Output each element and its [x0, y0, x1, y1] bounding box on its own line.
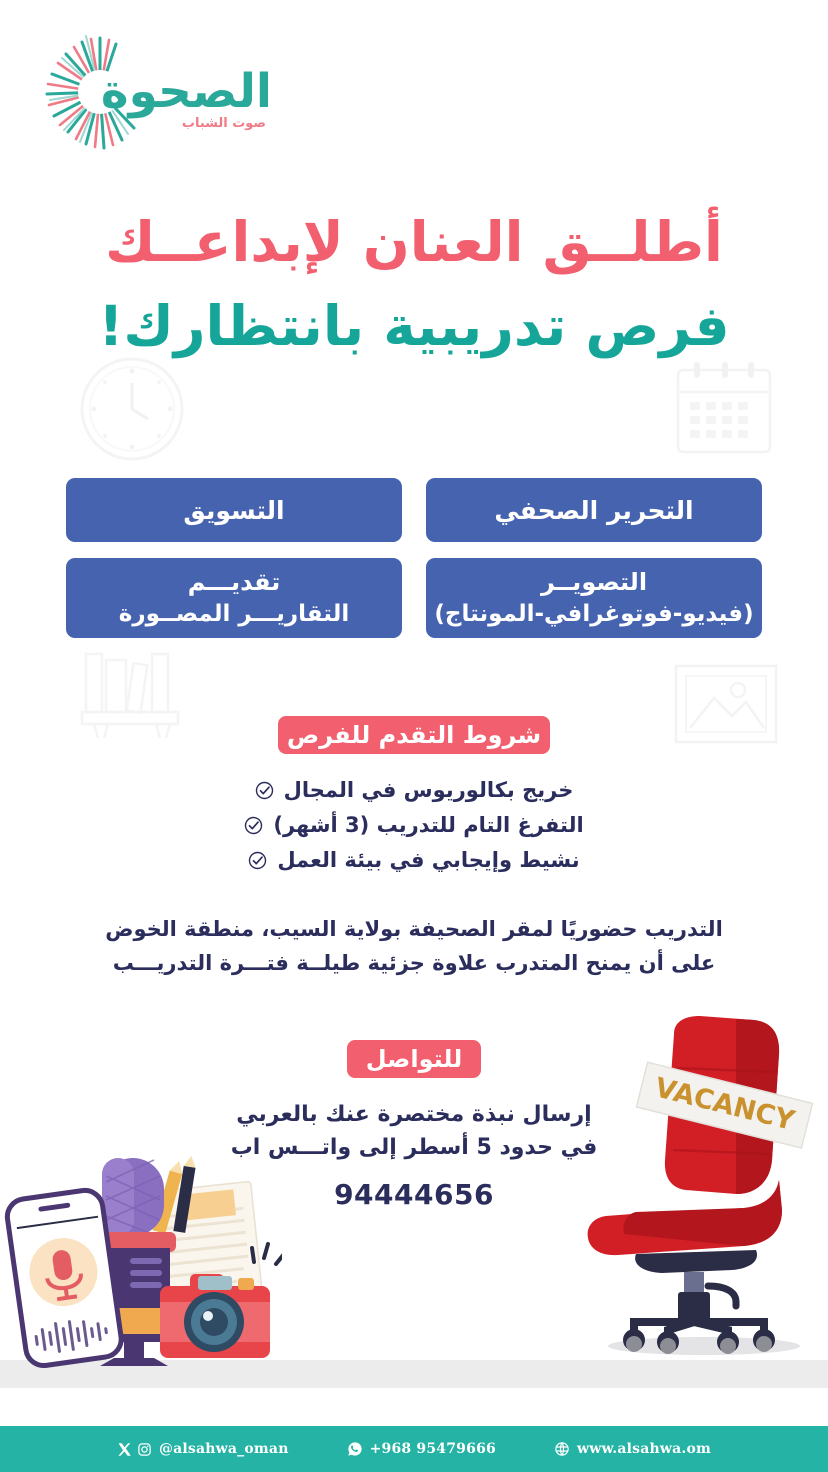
category-sublabel: (فيديو-فوتوغرافي-المونتاج)	[434, 599, 753, 629]
check-circle-icon	[244, 816, 263, 835]
footer-website-item[interactable]: www.alsahwa.om	[554, 1441, 711, 1457]
condition-label: خريج بكالوريوس في المجال	[284, 778, 574, 802]
poster-canvas: الصحوة صوت الشباب أطلــق العنان لإبداعــ…	[0, 0, 828, 1472]
footer-social-item[interactable]: @alsahwa_oman	[117, 1441, 289, 1457]
category-box-photography[interactable]: التصويــر (فيديو-فوتوغرافي-المونتاج)	[426, 558, 762, 638]
conditions-heading-label: شروط التقدم للفرص	[287, 721, 541, 749]
footer-whatsapp-number: +968 95479666	[370, 1441, 496, 1457]
calendar-watermark-icon	[672, 358, 776, 458]
training-note-line-2: على أن يمنح المتدرب علاوة جزئية طيلــة ف…	[0, 946, 828, 980]
training-note: التدريب حضوريًا لمقر الصحيفة بولاية السي…	[0, 912, 828, 980]
condition-label: نشيط وإيجابي في بيئة العمل	[277, 848, 579, 872]
social-icons-group	[117, 1442, 152, 1457]
clock-watermark-icon	[78, 355, 186, 463]
condition-item: خريج بكالوريوس في المجال	[0, 778, 828, 802]
conditions-heading-badge: شروط التقدم للفرص	[278, 716, 550, 754]
contact-heading-label: للتواصل	[366, 1045, 463, 1073]
bookshelf-watermark-icon	[78, 648, 192, 740]
contact-heading-badge: للتواصل	[347, 1040, 481, 1078]
condition-label: التفرغ التام للتدريب (3 أشهر)	[273, 813, 583, 837]
contact-instruction-line-2: في حدود 5 أسطر إلى واتـــس اب	[0, 1131, 828, 1164]
category-label: التحرير الصحفي	[494, 496, 693, 525]
category-box-marketing[interactable]: التسويق	[66, 478, 402, 542]
check-circle-icon	[255, 781, 274, 800]
headline-line-1: أطلــق العنان لإبداعــك	[0, 212, 828, 274]
category-sublabel: التقاريـــر المصــورة	[119, 599, 349, 629]
category-box-journalism[interactable]: التحرير الصحفي	[426, 478, 762, 542]
contact-phone-number[interactable]: 94444656	[0, 1178, 828, 1211]
whatsapp-icon[interactable]	[347, 1441, 363, 1457]
condition-item: التفرغ التام للتدريب (3 أشهر)	[0, 813, 828, 837]
category-box-reporting[interactable]: تقديـــم التقاريـــر المصــورة	[66, 558, 402, 638]
training-note-line-1: التدريب حضوريًا لمقر الصحيفة بولاية السي…	[0, 912, 828, 946]
contact-instruction-line-1: إرسال نبذة مختصرة عنك بالعربي	[0, 1098, 828, 1131]
instagram-icon[interactable]	[137, 1442, 152, 1457]
white-gap-band	[0, 1388, 828, 1426]
gray-divider-band	[0, 1360, 828, 1388]
contact-instructions: إرسال نبذة مختصرة عنك بالعربي في حدود 5 …	[0, 1098, 828, 1164]
headline-line-2: فرص تدريبية بانتظارك!	[0, 296, 828, 358]
footer-whatsapp-item[interactable]: +968 95479666	[347, 1441, 496, 1457]
category-label: التسويق	[183, 496, 284, 525]
globe-icon[interactable]	[554, 1441, 570, 1457]
category-list: التحرير الصحفي التسويق التصويــر (فيديو-…	[66, 478, 762, 638]
logo-text: الصحوة صوت الشباب	[101, 68, 272, 130]
x-twitter-icon[interactable]	[117, 1442, 132, 1457]
conditions-list: خريج بكالوريوس في المجال التفرغ التام لل…	[0, 778, 828, 883]
poster-headline: أطلــق العنان لإبداعــك فرص تدريبية بانت…	[0, 212, 828, 357]
brand-logo: الصحوة صوت الشباب	[42, 30, 272, 158]
footer-social-handle: @alsahwa_oman	[159, 1441, 289, 1457]
image-frame-watermark-icon	[672, 662, 780, 746]
footer-website-url: www.alsahwa.om	[577, 1441, 711, 1457]
category-label: التصويــر	[541, 567, 647, 599]
condition-item: نشيط وإيجابي في بيئة العمل	[0, 848, 828, 872]
footer-contact-bar: @alsahwa_oman +968 95479666 www.alsahwa.…	[0, 1426, 828, 1472]
logo-name: الصحوة	[101, 68, 272, 115]
media-tools-illustration	[2, 1136, 282, 1380]
category-label: تقديـــم	[188, 567, 281, 599]
check-circle-icon	[248, 851, 267, 870]
